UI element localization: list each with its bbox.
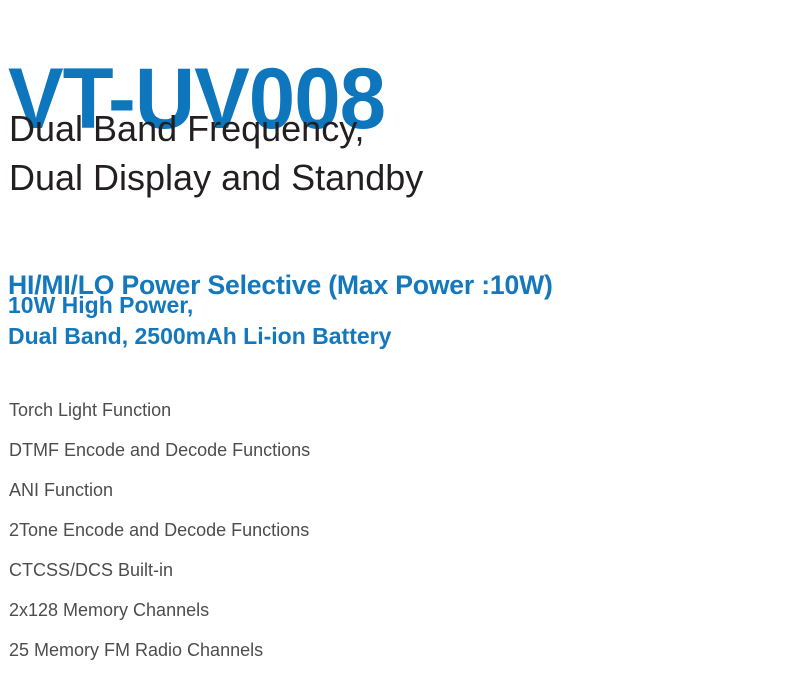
list-item: DTMF Encode and Decode Functions <box>9 438 310 478</box>
battery-headline: 10W High Power, Dual Band, 2500mAh Li-io… <box>8 290 391 352</box>
list-item: ANI Function <box>9 478 310 518</box>
list-item: 2x128 Memory Channels <box>9 598 310 638</box>
feature-list: Torch Light Function DTMF Encode and Dec… <box>9 398 310 678</box>
list-item: CTCSS/DCS Built-in <box>9 558 310 598</box>
list-item: Torch Light Function <box>9 398 310 438</box>
list-item: 2Tone Encode and Decode Functions <box>9 518 310 558</box>
list-item: 25 Memory FM Radio Channels <box>9 638 310 678</box>
product-subtitle-line-2: Dual Display and Standby <box>9 153 423 202</box>
product-spec-sheet: VT-UV008 Dual Band Frequency, Dual Displ… <box>0 0 789 682</box>
battery-headline-line-1: 10W High Power, <box>8 290 391 321</box>
product-subtitle-line-1: Dual Band Frequency, <box>9 104 423 153</box>
battery-headline-line-2: Dual Band, 2500mAh Li-ion Battery <box>8 321 391 352</box>
product-subtitle: Dual Band Frequency, Dual Display and St… <box>9 104 423 202</box>
